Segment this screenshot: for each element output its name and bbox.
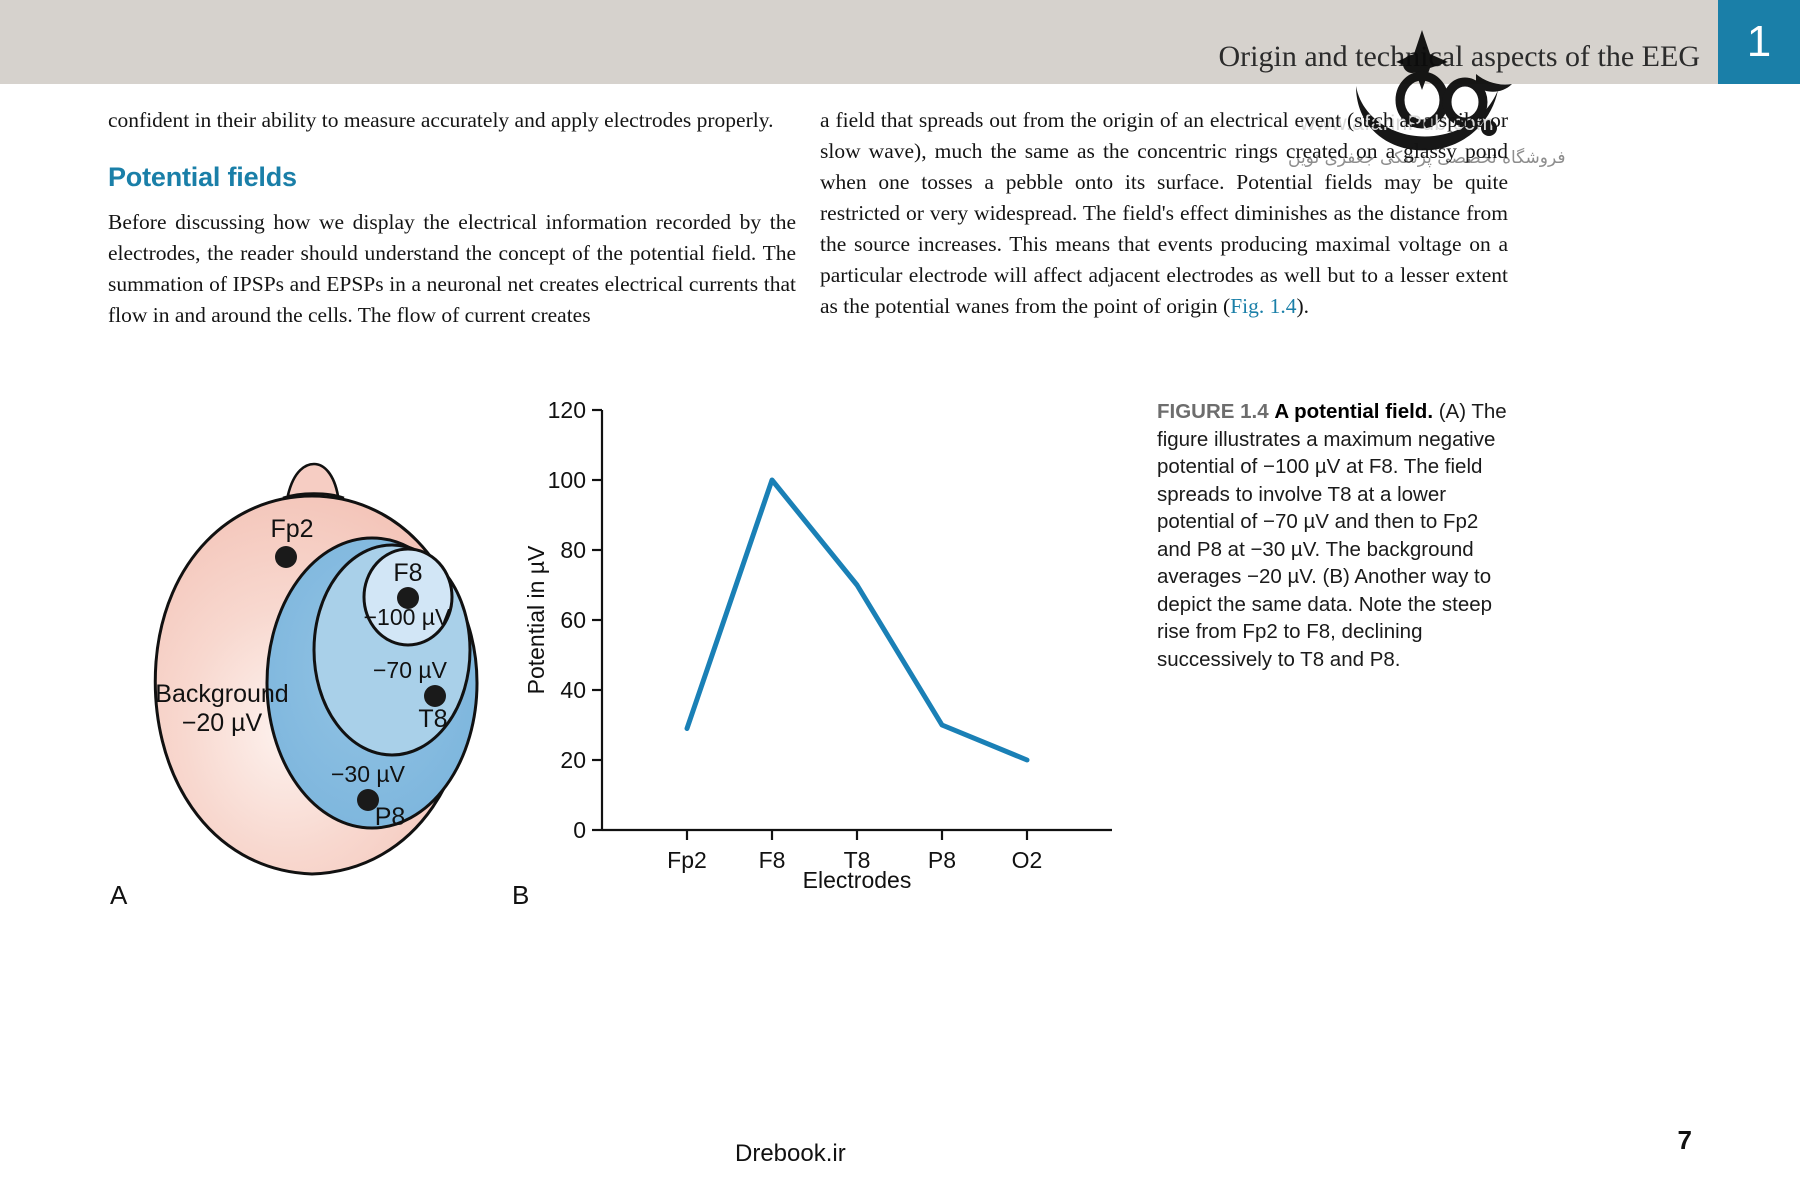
- left-text-column: confident in their ability to measure ac…: [108, 105, 796, 331]
- electrode-label-p8: P8: [375, 803, 406, 831]
- electrode-dot-fp2: [275, 546, 297, 568]
- chart-x-tick-label: F8: [759, 847, 786, 873]
- right-paragraph-part1: a field that spreads out from the origin…: [820, 108, 1508, 318]
- panel-a-letter: A: [110, 880, 127, 911]
- electrode-label-t8: T8: [418, 705, 447, 733]
- chart-y-tick-label: 0: [573, 817, 586, 843]
- figure-1-4: Fp2 F8 T8 P8 −100 µV −70 µV −30 µV Backg…: [0, 380, 1800, 940]
- caption-body-text: (A) The figure illustrates a maximum neg…: [1157, 400, 1507, 671]
- chart-y-tick-label: 80: [560, 537, 586, 563]
- figure-caption: FIGURE 1.4 A potential field. (A) The fi…: [1157, 398, 1507, 673]
- chart-y-tick-label: 60: [560, 607, 586, 633]
- chart-y-tick-label: 40: [560, 677, 586, 703]
- contour-label-30uv: −30 µV: [331, 761, 406, 787]
- chart-x-axis-label: Electrodes: [803, 867, 912, 890]
- contour-label-100uv: −100 µV: [364, 604, 451, 630]
- background-label-line1: Background: [155, 680, 288, 708]
- right-body-paragraph: a field that spreads out from the origin…: [820, 105, 1508, 322]
- electrode-label-f8: F8: [393, 559, 422, 587]
- chart-y-ticks: 020406080100120: [548, 397, 602, 843]
- left-continued-paragraph: confident in their ability to measure ac…: [108, 105, 796, 136]
- section-heading-potential-fields: Potential fields: [108, 162, 796, 193]
- chart-data-line: [687, 480, 1027, 760]
- figure-cross-reference[interactable]: Fig. 1.4: [1230, 294, 1296, 318]
- chart-y-axis-label: Potential in µV: [523, 545, 549, 694]
- panel-a-head-diagram: Fp2 F8 T8 P8 −100 µV −70 µV −30 µV Backg…: [100, 400, 520, 920]
- caption-figure-label: FIGURE 1.4: [1157, 400, 1269, 423]
- left-body-paragraph: Before discussing how we display the ele…: [108, 207, 796, 331]
- electrode-label-fp2: Fp2: [270, 515, 313, 543]
- panel-b-letter: B: [512, 880, 529, 911]
- chart-y-tick-label: 20: [560, 747, 586, 773]
- electrode-dot-t8: [424, 685, 446, 707]
- right-text-column: a field that spreads out from the origin…: [820, 105, 1508, 322]
- caption-figure-title: A potential field.: [1274, 400, 1433, 423]
- background-label-line2: −20 µV: [182, 709, 263, 737]
- page-number: 7: [1678, 1125, 1692, 1156]
- right-paragraph-part2: ).: [1297, 294, 1310, 318]
- chart-y-tick-label: 120: [548, 397, 586, 423]
- chart-y-tick-label: 100: [548, 467, 586, 493]
- chart-x-tick-label: P8: [928, 847, 956, 873]
- running-head-title: Origin and technical aspects of the EEG: [1219, 40, 1701, 74]
- contour-label-70uv: −70 µV: [373, 657, 448, 683]
- site-watermark-footer: Drebook.ir: [735, 1140, 846, 1168]
- chart-x-tick-label: O2: [1012, 847, 1043, 873]
- chapter-number: 1: [1718, 0, 1800, 84]
- panel-b-line-chart: 020406080100120 Fp2F8T8P8O2 Potential in…: [510, 390, 1150, 890]
- chart-x-tick-label: Fp2: [667, 847, 707, 873]
